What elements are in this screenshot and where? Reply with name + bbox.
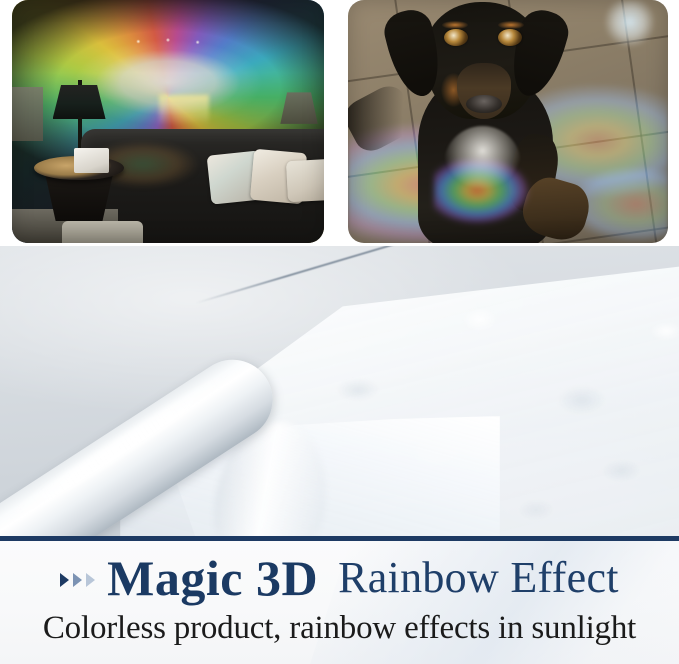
triangle-right-icon bbox=[73, 573, 82, 587]
photo-living-room-inner bbox=[12, 0, 324, 243]
photo-dog-inner bbox=[348, 0, 668, 243]
ottoman bbox=[62, 221, 143, 243]
headline-suffix: Rainbow Effect bbox=[338, 556, 619, 600]
ceiling-light-dots bbox=[115, 34, 221, 49]
triangle-right-icon bbox=[86, 573, 95, 587]
dog-brow-right bbox=[498, 21, 524, 30]
headline-prefix: Magic 3D bbox=[107, 553, 318, 603]
dog-brow-left bbox=[442, 21, 468, 30]
product-poster: Magic 3D Rainbow Effect Colorless produc… bbox=[0, 0, 679, 664]
headline-banner: Magic 3D Rainbow Effect Colorless produc… bbox=[0, 536, 679, 664]
photo-strip bbox=[0, 0, 679, 252]
photo-living-room bbox=[12, 0, 324, 243]
tissue-box bbox=[74, 148, 108, 172]
dog-chest-rainbow bbox=[434, 160, 530, 228]
window-reflection bbox=[159, 95, 209, 129]
dog-nose bbox=[466, 95, 501, 113]
product-photo bbox=[0, 246, 679, 538]
triangle-right-icon bbox=[60, 573, 69, 587]
lamp-shade bbox=[53, 85, 106, 119]
left-wall-panel bbox=[12, 87, 43, 140]
subheadline: Colorless product, rainbow effects in su… bbox=[0, 610, 679, 648]
banner-top-rule bbox=[0, 536, 679, 541]
arrow-group bbox=[60, 573, 95, 587]
headline-row: Magic 3D Rainbow Effect bbox=[0, 550, 679, 606]
throw-pillow bbox=[285, 159, 324, 203]
photo-dog bbox=[348, 0, 668, 243]
